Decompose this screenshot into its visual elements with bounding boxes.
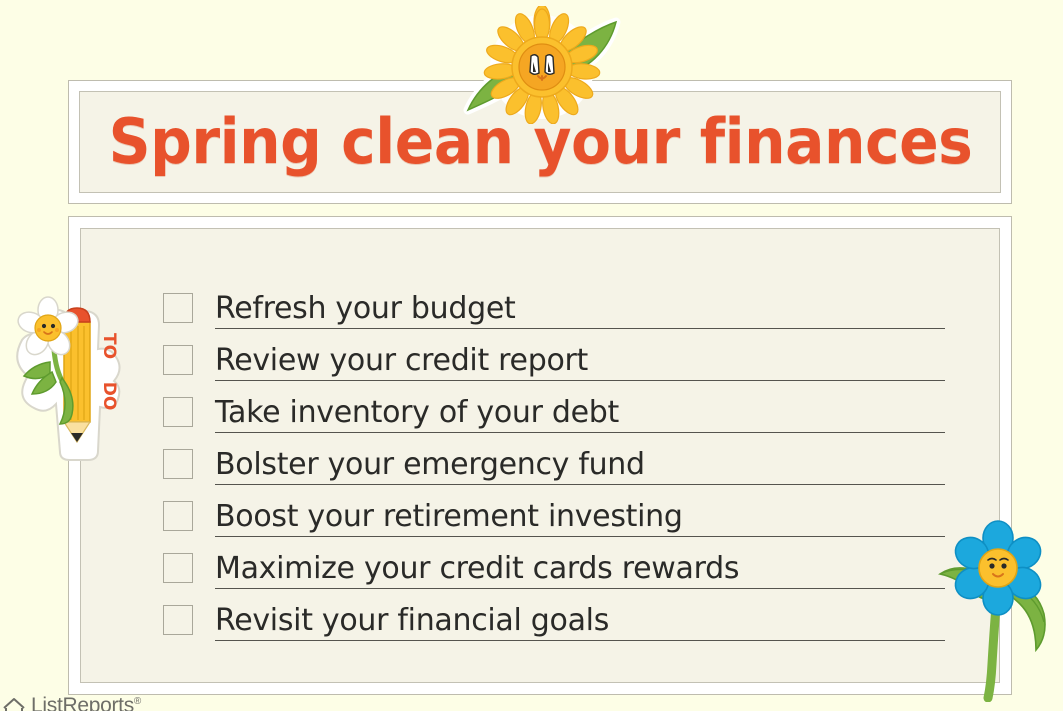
sunflower-sticker — [452, 6, 632, 124]
blue-flower-decoration — [936, 516, 1058, 702]
list-item-rule: Take inventory of your debt — [215, 395, 945, 433]
list-item[interactable]: Review your credit report — [163, 329, 945, 381]
list-item-label: Maximize your credit cards rewards — [215, 552, 739, 586]
list-item-label: Bolster your emergency fund — [215, 448, 645, 482]
list-item[interactable]: Maximize your credit cards rewards — [163, 537, 945, 589]
list-item[interactable]: Bolster your emergency fund — [163, 433, 945, 485]
list-item-rule: Maximize your credit cards rewards — [215, 551, 945, 589]
list-item-rule: Review your credit report — [215, 343, 945, 381]
checkbox-icon[interactable] — [163, 397, 193, 427]
todo-pencil-sticker: TO DO — [4, 296, 132, 464]
logo-word: ListReports — [31, 694, 134, 711]
list-item[interactable]: Refresh your budget — [163, 277, 945, 329]
checkbox-icon[interactable] — [163, 605, 193, 635]
house-roof-icon — [2, 696, 26, 711]
checkbox-icon[interactable] — [163, 449, 193, 479]
list-item[interactable]: Boost your retirement investing — [163, 485, 945, 537]
todo-line-2: DO — [99, 382, 119, 411]
list-item-label: Review your credit report — [215, 344, 588, 378]
logo-text: ListReports® — [31, 694, 141, 711]
list-item-label: Take inventory of your debt — [215, 396, 619, 430]
list-item-rule: Revisit your financial goals — [215, 603, 945, 641]
todo-line-1: TO — [99, 333, 119, 359]
listreports-logo: ListReports® — [2, 694, 141, 711]
list-item-rule: Bolster your emergency fund — [215, 447, 945, 485]
list-item-label: Boost your retirement investing — [215, 500, 683, 534]
list-item-rule: Refresh your budget — [215, 291, 945, 329]
checkbox-icon[interactable] — [163, 345, 193, 375]
list-item[interactable]: Take inventory of your debt — [163, 381, 945, 433]
checkbox-icon[interactable] — [163, 501, 193, 531]
registered-mark: ® — [134, 696, 141, 707]
checklist: Refresh your budget Review your credit r… — [163, 277, 945, 641]
list-item-label: Refresh your budget — [215, 292, 515, 326]
list-item-label: Revisit your financial goals — [215, 604, 609, 638]
checkbox-icon[interactable] — [163, 553, 193, 583]
list-item[interactable]: Revisit your financial goals — [163, 589, 945, 641]
list-item-rule: Boost your retirement investing — [215, 499, 945, 537]
checkbox-icon[interactable] — [163, 293, 193, 323]
